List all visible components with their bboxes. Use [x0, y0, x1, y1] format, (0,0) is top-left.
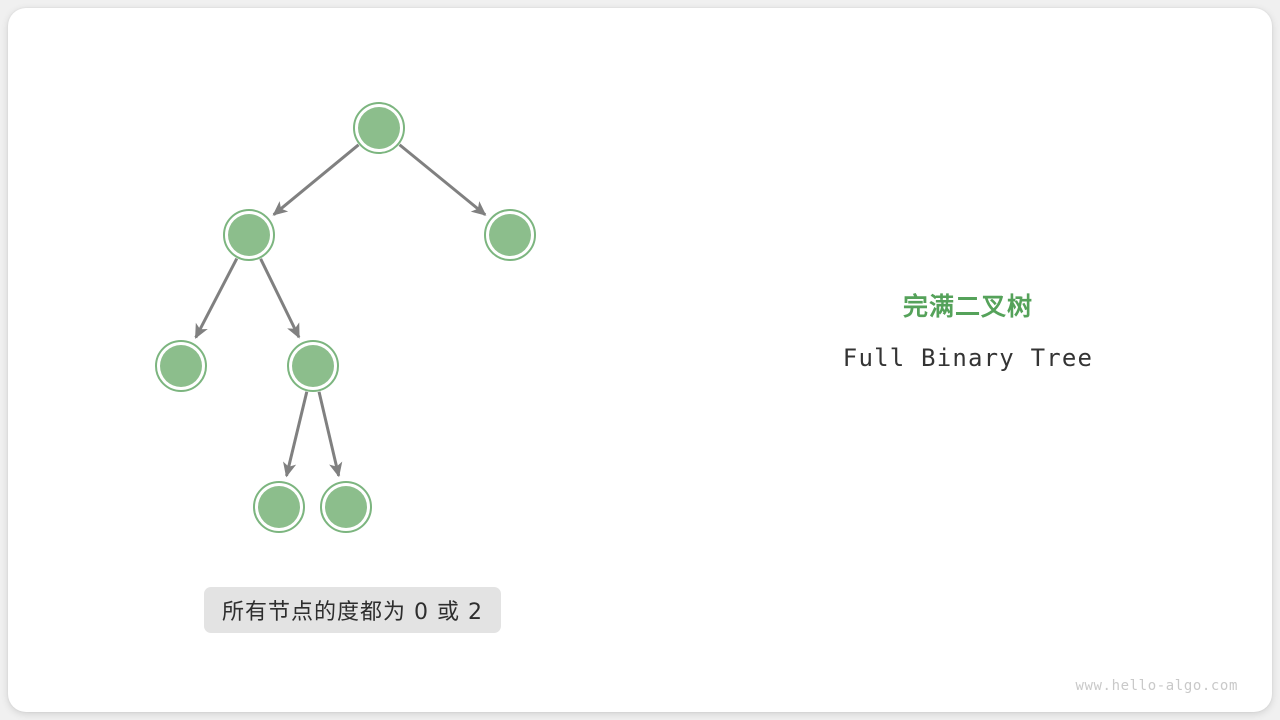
- node-body: [489, 214, 531, 256]
- tree-node: [485, 210, 535, 260]
- watermark: www.hello-algo.com: [1075, 678, 1238, 694]
- node-body: [325, 486, 367, 528]
- tree-node: [288, 341, 338, 391]
- tree-edge: [274, 145, 359, 215]
- node-body: [258, 486, 300, 528]
- tree-edge: [319, 392, 339, 476]
- tree-node: [321, 482, 371, 532]
- node-body: [228, 214, 270, 256]
- tree-edge: [261, 259, 299, 337]
- node-body: [292, 345, 334, 387]
- caption-pill: 所有节点的度都为 0 或 2: [204, 587, 501, 633]
- legend-block: 完满二叉树 Full Binary Tree: [768, 292, 1168, 372]
- tree-node: [354, 103, 404, 153]
- title-english: Full Binary Tree: [768, 344, 1168, 372]
- tree-node: [224, 210, 274, 260]
- title-chinese: 完满二叉树: [768, 292, 1168, 322]
- tree-nodes: [156, 103, 535, 532]
- tree-edge: [287, 392, 307, 476]
- tree-edges: [196, 145, 485, 476]
- tree-node: [254, 482, 304, 532]
- node-body: [358, 107, 400, 149]
- node-body: [160, 345, 202, 387]
- caption-text: 所有节点的度都为 0 或 2: [222, 594, 483, 626]
- figure-canvas: 完满二叉树 Full Binary Tree 所有节点的度都为 0 或 2 ww…: [0, 0, 1280, 720]
- tree-edge: [196, 259, 237, 338]
- tree-edge: [400, 145, 486, 215]
- tree-node: [156, 341, 206, 391]
